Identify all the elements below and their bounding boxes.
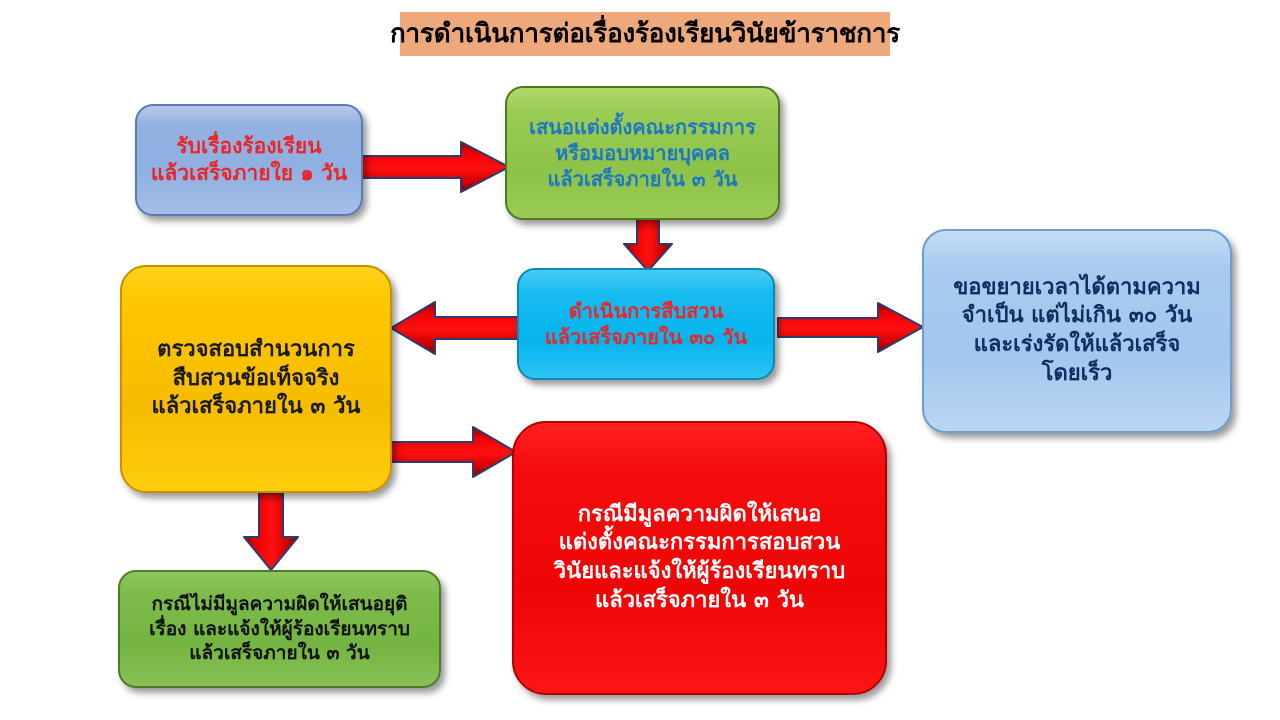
diagram-title-bar: การดำเนินการต่อเรื่องร้องเรียนวินัยข้ารา…: [400, 12, 890, 56]
arrow-review-to-guilty: [387, 423, 519, 481]
node-extend-deadline[interactable]: ขอขยายเวลาได้ตามความ จำเป็น แต่ไม่เกิน ๓…: [922, 229, 1232, 433]
node-review-case-file-line-2: สืบสวนข้อเท็จจริง: [173, 365, 340, 394]
diagram-title: การดำเนินการต่อเรื่องร้องเรียนวินัยข้ารา…: [390, 21, 900, 47]
node-extend-deadline-line-4: โดยเร็ว: [1042, 360, 1113, 389]
node-review-case-file-line-1: ตรวจสอบสำนวนการ: [157, 336, 355, 365]
node-receive-complaint-line-1: รับเรื่องร้องเรียน: [176, 133, 321, 160]
node-case-has-merit-line-2: แต่งตั้งคณะกรรมการสอบสวน: [559, 529, 841, 558]
node-case-has-merit[interactable]: กรณีมีมูลความผิดให้เสนอ แต่งตั้งคณะกรรมก…: [512, 421, 887, 695]
node-extend-deadline-line-3: และเร่งรัดให้แล้วเสร็จ: [974, 331, 1181, 360]
node-case-no-merit-line-3: แล้วเสร็จภายใน ๓ วัน: [189, 641, 369, 666]
node-appoint-committee-line-3: แล้วเสร็จภายใน ๓ วัน: [548, 166, 738, 192]
node-review-case-file-line-3: แล้วเสร็จภายใน ๓ วัน: [152, 393, 361, 422]
arrow-investigate-to-extend: [776, 300, 926, 356]
node-receive-complaint[interactable]: รับเรื่องร้องเรียน แล้วเสร็จภายใย ๑ วัน: [135, 104, 363, 216]
node-appoint-committee-line-2: หรือมอบหมายบุคคล: [555, 140, 730, 166]
node-case-has-merit-line-3: วินัยและแจ้งให้ผู้ร้องเรียนทราบ: [554, 558, 845, 587]
node-case-no-merit[interactable]: กรณีไม่มีมูลความผิดให้เสนอยุติ เรื่อง แล…: [118, 570, 441, 688]
node-conduct-investigation-line-2: แล้วเสร็จภายใน ๓๐ วัน: [545, 324, 747, 350]
node-case-no-merit-line-2: เรื่อง และแจ้งให้ผู้ร้องเรียนทราบ: [149, 617, 410, 642]
node-case-has-merit-line-4: แล้วเสร็จภายใน ๓ วัน: [595, 587, 804, 616]
arrow-review-to-notguilty: [240, 491, 304, 573]
node-review-case-file[interactable]: ตรวจสอบสำนวนการ สืบสวนข้อเท็จจริง แล้วเส…: [120, 265, 392, 493]
node-conduct-investigation[interactable]: ดำเนินการสืบสวน แล้วเสร็จภายใน ๓๐ วัน: [517, 268, 775, 380]
node-case-no-merit-line-1: กรณีไม่มีมูลความผิดให้เสนอยุติ: [152, 592, 408, 617]
node-conduct-investigation-line-1: ดำเนินการสืบสวน: [569, 298, 724, 324]
node-extend-deadline-line-2: จำเป็น แต่ไม่เกิน ๓๐ วัน: [962, 302, 1193, 331]
node-extend-deadline-line-1: ขอขยายเวลาได้ตามความ: [953, 274, 1201, 303]
node-appoint-committee[interactable]: เสนอแต่งตั้งคณะกรรมการ หรือมอบหมายบุคคล …: [505, 86, 780, 220]
arrow-receive-to-appoint: [357, 138, 513, 196]
node-case-has-merit-line-1: กรณีมีมูลความผิดให้เสนอ: [578, 501, 822, 530]
node-receive-complaint-line-2: แล้วเสร็จภายใย ๑ วัน: [151, 160, 347, 187]
arrow-appoint-to-investigate: [620, 216, 676, 274]
arrow-investigate-to-review: [389, 298, 521, 358]
flowchart-canvas: การดำเนินการต่อเรื่องร้องเรียนวินัยข้ารา…: [0, 0, 1280, 720]
node-appoint-committee-line-1: เสนอแต่งตั้งคณะกรรมการ: [529, 114, 756, 140]
